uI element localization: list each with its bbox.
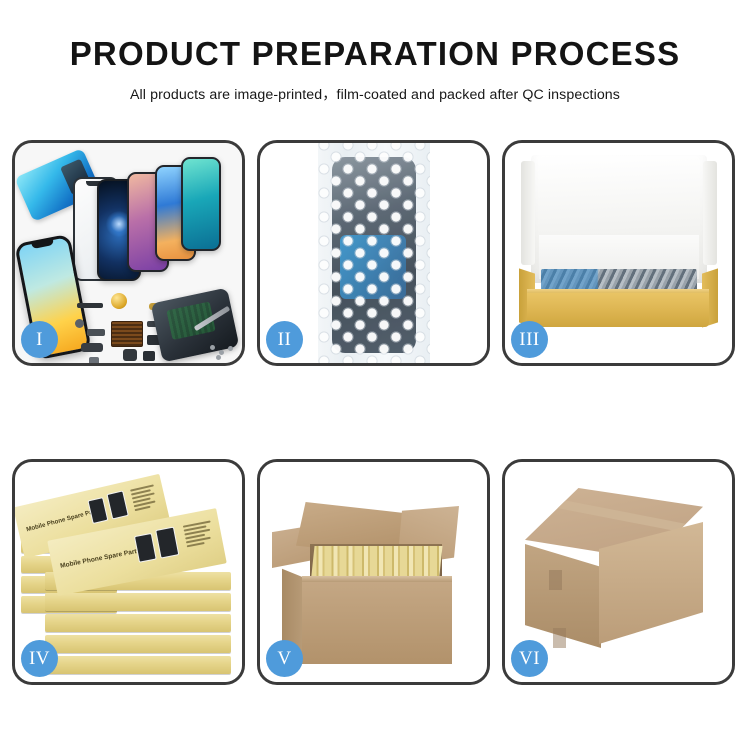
step-badge-4: IV: [21, 640, 58, 677]
screws-icon: [210, 345, 236, 359]
step-card-1[interactable]: I: [12, 140, 245, 366]
part-icon-1: [77, 303, 103, 308]
chip-grid-part-icon: [111, 321, 143, 347]
phone-icon-4: [181, 157, 221, 251]
step-badge-2: II: [266, 321, 303, 358]
page-subtitle: All products are image-printed，film-coat…: [0, 84, 750, 104]
step-card-6[interactable]: VI: [502, 459, 735, 685]
part-icon-10: [75, 319, 84, 328]
carton-seam-lower: [553, 628, 566, 648]
part-icon-8: [123, 349, 137, 361]
product-preparation-page: PRODUCT PREPARATION PROCESS All products…: [0, 0, 750, 750]
part-icon-9: [143, 351, 155, 361]
carton-front: [302, 582, 452, 664]
process-step-grid: I II III: [12, 140, 740, 685]
box-phone-thumb-a1: [87, 497, 108, 524]
part-icon-4: [89, 357, 99, 363]
mailer-box-front: [527, 293, 709, 327]
step-card-4[interactable]: Mobile Phone Spare Parts Mobile Phone Sp…: [12, 459, 245, 685]
box-spec-lines-a: [130, 484, 161, 513]
step-card-5[interactable]: V: [257, 459, 490, 685]
step-card-2[interactable]: II: [257, 140, 490, 366]
step-badge-1: I: [21, 321, 58, 358]
part-icon-3: [81, 343, 103, 352]
box-phone-thumb-b1: [134, 533, 157, 563]
carton-seam-upper: [549, 570, 562, 590]
page-title: PRODUCT PREPARATION PROCESS: [0, 36, 750, 72]
camera-lens-part-icon: [111, 293, 127, 309]
page-header: PRODUCT PREPARATION PROCESS All products…: [0, 0, 750, 104]
box-phone-thumb-b2: [155, 527, 179, 559]
step-badge-3: III: [511, 321, 548, 358]
box-label-b: Mobile Phone Spare Parts: [60, 547, 141, 569]
box-spec-lines-b: [183, 520, 217, 549]
step-badge-6: VI: [511, 640, 548, 677]
step-badge-5: V: [266, 640, 303, 677]
box-phone-thumb-a2: [106, 490, 128, 519]
bubble-wrap-icon: [318, 143, 430, 363]
step-card-3[interactable]: III: [502, 140, 735, 366]
part-icon-2: [87, 329, 105, 336]
